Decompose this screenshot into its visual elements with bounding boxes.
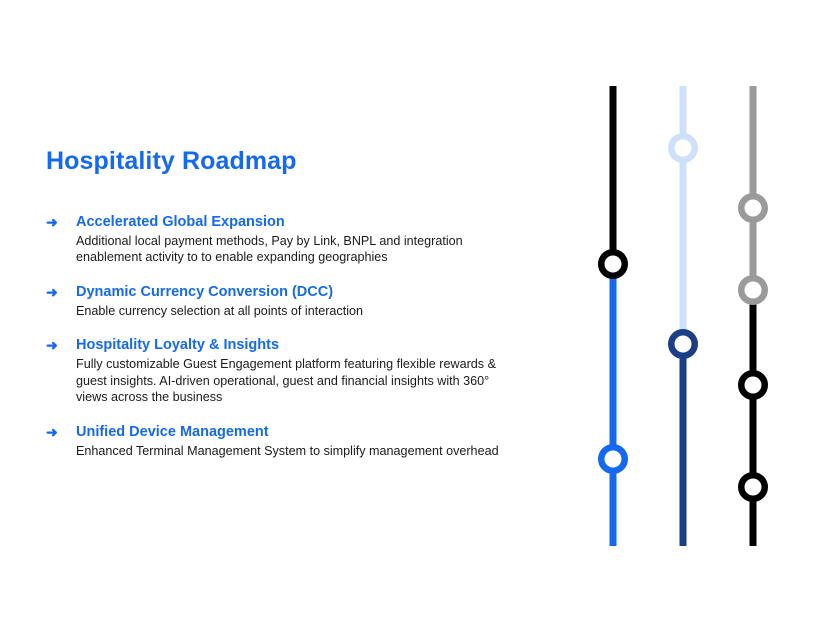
timeline-milestone-marker[interactable] <box>671 136 695 160</box>
timeline-track <box>671 86 695 546</box>
bullet-heading: Hospitality Loyalty & Insights <box>76 337 516 354</box>
timeline-milestone-marker[interactable] <box>601 447 625 471</box>
page-title: Hospitality Roadmap <box>46 148 516 176</box>
bullet-heading: Dynamic Currency Conversion (DCC) <box>76 284 516 301</box>
timeline-milestone-marker[interactable] <box>741 196 765 220</box>
timeline-track <box>741 86 765 546</box>
bullet-body: Additional local payment methods, Pay by… <box>76 233 506 266</box>
arrow-right-icon: ➜ <box>46 214 58 231</box>
arrow-right-icon: ➜ <box>46 284 58 301</box>
arrow-right-icon: ➜ <box>46 337 58 354</box>
roadmap-timeline-graphic <box>560 60 810 570</box>
bullet-body: Enable currency selection at all points … <box>76 303 506 320</box>
slide-canvas: Hospitality Roadmap ➜ Accelerated Global… <box>0 0 820 634</box>
list-item: ➜ Accelerated Global Expansion Additiona… <box>46 214 516 266</box>
arrow-right-icon: ➜ <box>46 424 58 441</box>
roadmap-bullet-list: ➜ Accelerated Global Expansion Additiona… <box>46 214 516 460</box>
bullet-heading: Accelerated Global Expansion <box>76 214 516 231</box>
list-item: ➜ Dynamic Currency Conversion (DCC) Enab… <box>46 284 516 320</box>
timeline-milestone-marker[interactable] <box>741 475 765 499</box>
timeline-svg <box>560 60 810 570</box>
timeline-milestone-marker[interactable] <box>741 278 765 302</box>
timeline-milestone-marker[interactable] <box>671 332 695 356</box>
timeline-milestone-marker[interactable] <box>601 252 625 276</box>
bullet-body: Fully customizable Guest Engagement plat… <box>76 356 506 406</box>
timeline-track <box>601 86 625 546</box>
timeline-milestone-marker[interactable] <box>741 373 765 397</box>
bullet-heading: Unified Device Management <box>76 424 516 441</box>
list-item: ➜ Hospitality Loyalty & Insights Fully c… <box>46 337 516 406</box>
list-item: ➜ Unified Device Management Enhanced Ter… <box>46 424 516 460</box>
bullet-body: Enhanced Terminal Management System to s… <box>76 443 506 460</box>
content-column: Hospitality Roadmap ➜ Accelerated Global… <box>46 148 516 459</box>
